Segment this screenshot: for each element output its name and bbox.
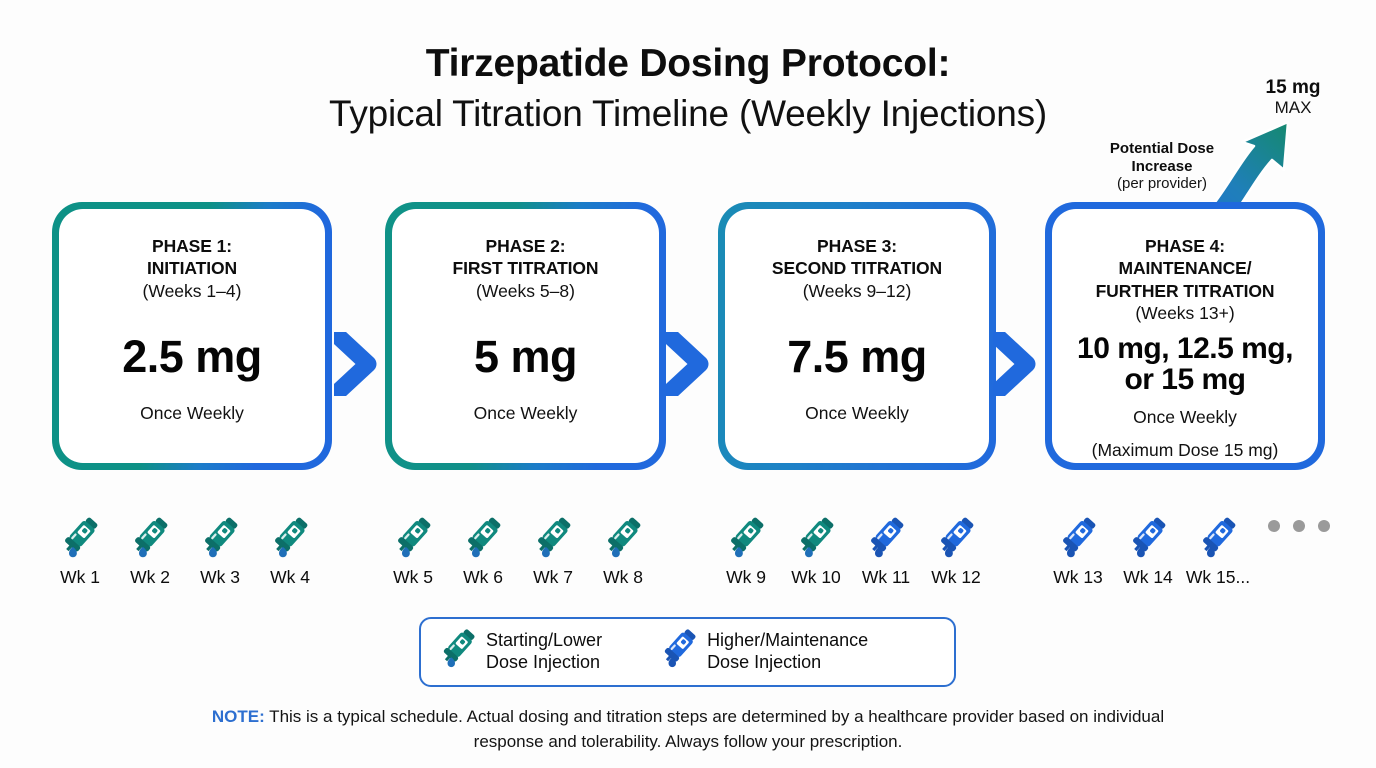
week-cell[interactable]: Wk 15...	[1183, 495, 1253, 588]
phase-1-frequency: Once Weekly	[140, 402, 244, 425]
week-label: Wk 10	[781, 567, 851, 588]
week-pen-icon-holder	[711, 495, 781, 563]
phase-3-weeks: (Weeks 9–12)	[803, 280, 912, 303]
phase-2-frequency: Once Weekly	[474, 402, 578, 425]
week-label: Wk 12	[921, 567, 991, 588]
phase-3-dose: 7.5 mg	[787, 333, 927, 380]
continuation-dot	[1268, 520, 1280, 532]
max-dose-callout: 15 mg MAX	[1228, 78, 1358, 117]
week-cell[interactable]: Wk 10	[781, 495, 851, 588]
week-pen-icon-holder	[45, 495, 115, 563]
injection-pen-icon	[130, 514, 170, 563]
legend-box: Starting/Lower Dose Injection Higher/Mai…	[419, 617, 956, 687]
injection-pen-icon	[1058, 514, 1098, 563]
week-cell[interactable]: Wk 5	[378, 495, 448, 588]
phase-1-weeks: (Weeks 1–4)	[143, 280, 242, 303]
week-pen-icon-holder	[115, 495, 185, 563]
week-pen-icon-holder	[921, 495, 991, 563]
injection-pen-icon	[1128, 514, 1168, 563]
phase-2-dose: 5 mg	[474, 333, 577, 380]
week-label: Wk 13	[1043, 567, 1113, 588]
continuation-dots	[1268, 520, 1330, 532]
week-label: Wk 1	[45, 567, 115, 588]
week-cell[interactable]: Wk 2	[115, 495, 185, 588]
injection-pen-icon	[936, 514, 976, 563]
week-cell[interactable]: Wk 11	[851, 495, 921, 588]
week-cell[interactable]: Wk 3	[185, 495, 255, 588]
week-pen-icon-holder	[781, 495, 851, 563]
week-group-phase-1: Wk 1 Wk 2 Wk 3	[45, 495, 325, 588]
max-dose-value: 15 mg	[1228, 78, 1358, 98]
injection-pen-icon	[660, 626, 698, 672]
injection-pen-icon	[200, 514, 240, 563]
injection-pen-icon	[439, 626, 477, 672]
phase-connector-arrow-3-icon	[993, 332, 1053, 396]
week-cell[interactable]: Wk 9	[711, 495, 781, 588]
page-title: Tirzepatide Dosing Protocol:	[0, 42, 1376, 86]
phase-4-max-note: (Maximum Dose 15 mg)	[1092, 439, 1279, 462]
injection-pen-icon	[796, 514, 836, 563]
phase-1-heading: PHASE 1: INITIATION	[147, 235, 237, 280]
week-label: Wk 14	[1113, 567, 1183, 588]
phase-3-heading: PHASE 3: SECOND TITRATION	[772, 235, 942, 280]
phase-4-weeks: (Weeks 13+)	[1135, 302, 1234, 325]
week-cell[interactable]: Wk 13	[1043, 495, 1113, 588]
week-label: Wk 8	[588, 567, 658, 588]
week-cell[interactable]: Wk 4	[255, 495, 325, 588]
injection-pen-icon	[463, 514, 503, 563]
week-pen-icon-holder	[1183, 495, 1253, 563]
week-group-phase-4: Wk 13 Wk 14 Wk 15...	[1043, 495, 1253, 588]
week-pen-icon-holder	[1113, 495, 1183, 563]
phase-3-frequency: Once Weekly	[805, 402, 909, 425]
week-cell[interactable]: Wk 14	[1113, 495, 1183, 588]
phase-card-2[interactable]: PHASE 2: FIRST TITRATION (Weeks 5–8) 5 m…	[385, 202, 666, 470]
week-label: Wk 2	[115, 567, 185, 588]
week-group-phase-2: Wk 5 Wk 6 Wk 7	[378, 495, 658, 588]
week-pen-icon-holder	[1043, 495, 1113, 563]
phase-2-weeks: (Weeks 5–8)	[476, 280, 575, 303]
phase-2-heading: PHASE 2: FIRST TITRATION	[453, 235, 599, 280]
week-label: Wk 3	[185, 567, 255, 588]
week-cell[interactable]: Wk 8	[588, 495, 658, 588]
injection-pen-icon	[270, 514, 310, 563]
week-label: Wk 6	[448, 567, 518, 588]
phase-4-heading: PHASE 4: MAINTENANCE/ FURTHER TITRATION	[1096, 235, 1275, 302]
week-pen-icon-holder	[851, 495, 921, 563]
week-group-phase-3: Wk 9 Wk 10 Wk 11	[711, 495, 991, 588]
week-pen-icon-holder	[185, 495, 255, 563]
phase-card-1[interactable]: PHASE 1: INITIATION (Weeks 1–4) 2.5 mg O…	[52, 202, 332, 470]
phase-4-dose: 10 mg, 12.5 mg, or 15 mg	[1077, 333, 1293, 396]
week-label: Wk 7	[518, 567, 588, 588]
injection-pen-icon	[866, 514, 906, 563]
injection-pen-icon	[1198, 514, 1238, 563]
week-pen-icon-holder	[378, 495, 448, 563]
week-pen-icon-holder	[255, 495, 325, 563]
week-label: Wk 9	[711, 567, 781, 588]
legend-label-maintenance-dose: Higher/Maintenance Dose Injection	[707, 630, 868, 674]
phase-connector-arrow-2-icon	[666, 332, 726, 396]
injection-pen-icon	[660, 626, 698, 677]
injection-pen-icon	[726, 514, 766, 563]
continuation-dot	[1293, 520, 1305, 532]
note-text: This is a typical schedule. Actual dosin…	[265, 707, 1164, 751]
phase-card-4[interactable]: PHASE 4: MAINTENANCE/ FURTHER TITRATION …	[1045, 202, 1325, 470]
week-label: Wk 5	[378, 567, 448, 588]
week-label: Wk 15...	[1183, 567, 1253, 588]
injection-pen-icon	[60, 514, 100, 563]
week-cell[interactable]: Wk 1	[45, 495, 115, 588]
injection-pen-icon	[533, 514, 573, 563]
week-pen-icon-holder	[588, 495, 658, 563]
legend-item-maintenance-dose: Higher/Maintenance Dose Injection	[660, 626, 868, 677]
disclaimer-note: NOTE: This is a typical schedule. Actual…	[188, 705, 1188, 754]
phase-card-3[interactable]: PHASE 3: SECOND TITRATION (Weeks 9–12) 7…	[718, 202, 996, 470]
week-cell[interactable]: Wk 12	[921, 495, 991, 588]
phase-4-frequency: Once Weekly	[1133, 406, 1237, 429]
week-label: Wk 4	[255, 567, 325, 588]
week-label: Wk 11	[851, 567, 921, 588]
injection-pen-icon	[603, 514, 643, 563]
week-pen-icon-holder	[448, 495, 518, 563]
infographic-canvas: Tirzepatide Dosing Protocol: Typical Tit…	[0, 0, 1376, 768]
note-prefix: NOTE:	[212, 707, 265, 726]
week-cell[interactable]: Wk 7	[518, 495, 588, 588]
legend-item-starting-dose: Starting/Lower Dose Injection	[439, 626, 602, 677]
injection-pen-icon	[393, 514, 433, 563]
week-cell[interactable]: Wk 6	[448, 495, 518, 588]
injection-pen-icon	[439, 626, 477, 677]
legend-label-starting-dose: Starting/Lower Dose Injection	[486, 630, 602, 674]
week-pen-icon-holder	[518, 495, 588, 563]
max-dose-label: MAX	[1228, 98, 1358, 118]
continuation-dot	[1318, 520, 1330, 532]
phase-1-dose: 2.5 mg	[122, 333, 262, 380]
